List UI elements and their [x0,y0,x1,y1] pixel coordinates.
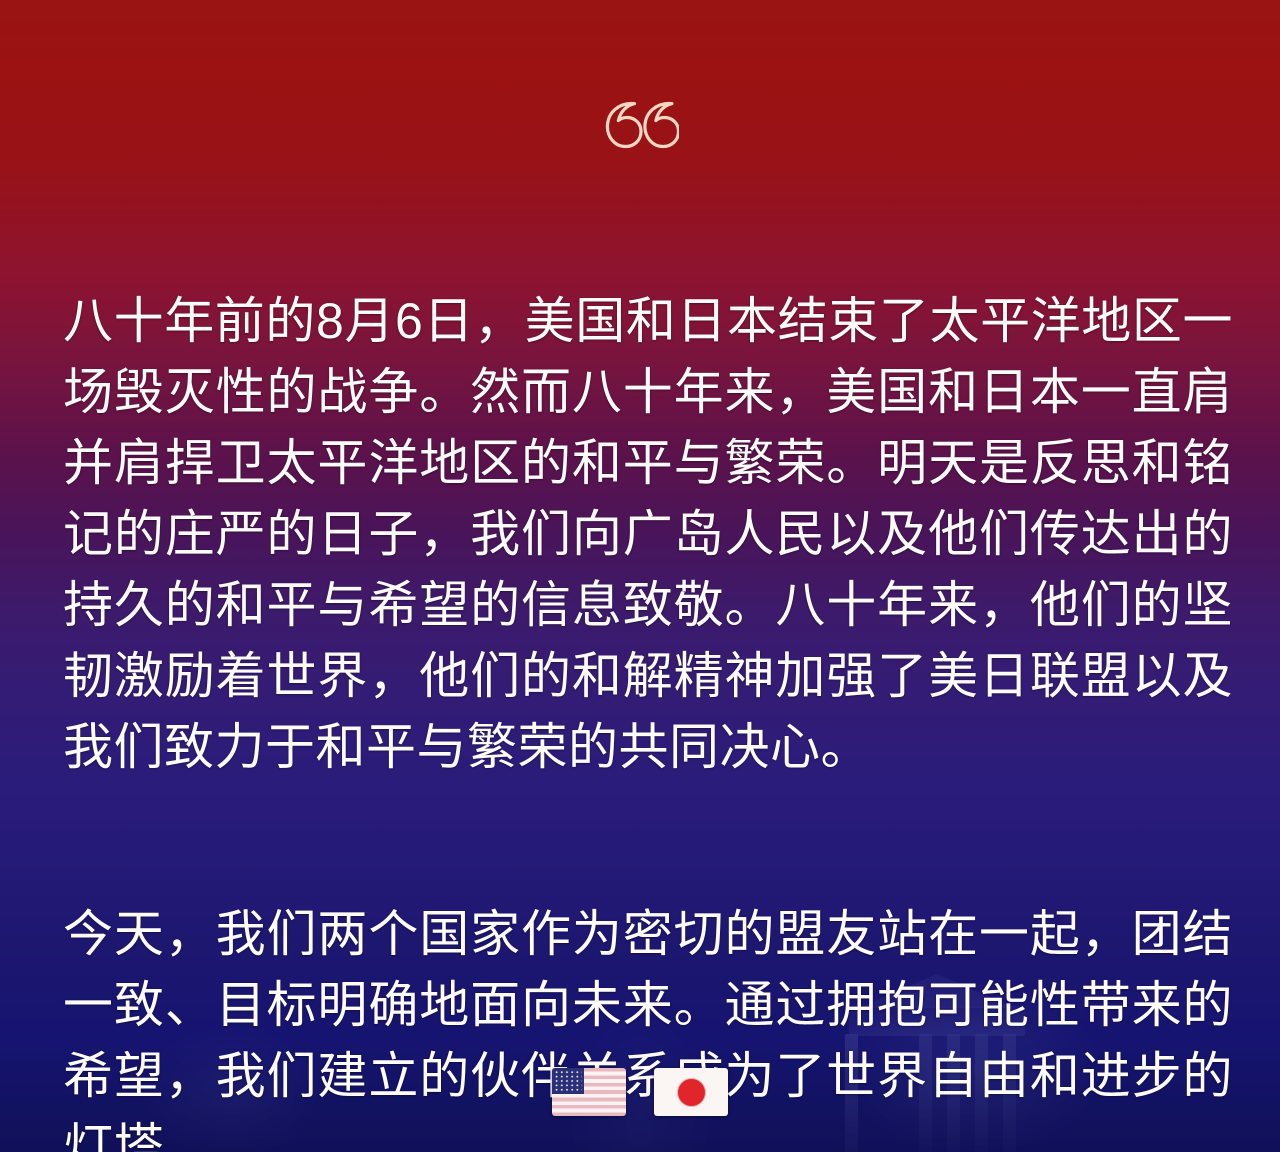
quote-paragraph-1: 八十年前的8月6日，美国和日本结束了太平洋地区一场毁灭性的战争。然而八十年来，美… [63,286,1233,783]
united-states-flag-icon [552,1068,626,1116]
quote-card: 八十年前的8月6日，美国和日本结束了太平洋地区一场毁灭性的战争。然而八十年来，美… [0,0,1280,1152]
japan-flag-icon [654,1068,728,1116]
quote-text-block: 八十年前的8月6日，美国和日本结束了太平洋地区一场毁灭性的战争。然而八十年来，美… [63,236,1233,1152]
flag-row [0,1068,1280,1116]
open-quote-icon [0,88,1280,168]
flag-sun-disc [678,1079,705,1106]
flag-canton [552,1068,584,1094]
